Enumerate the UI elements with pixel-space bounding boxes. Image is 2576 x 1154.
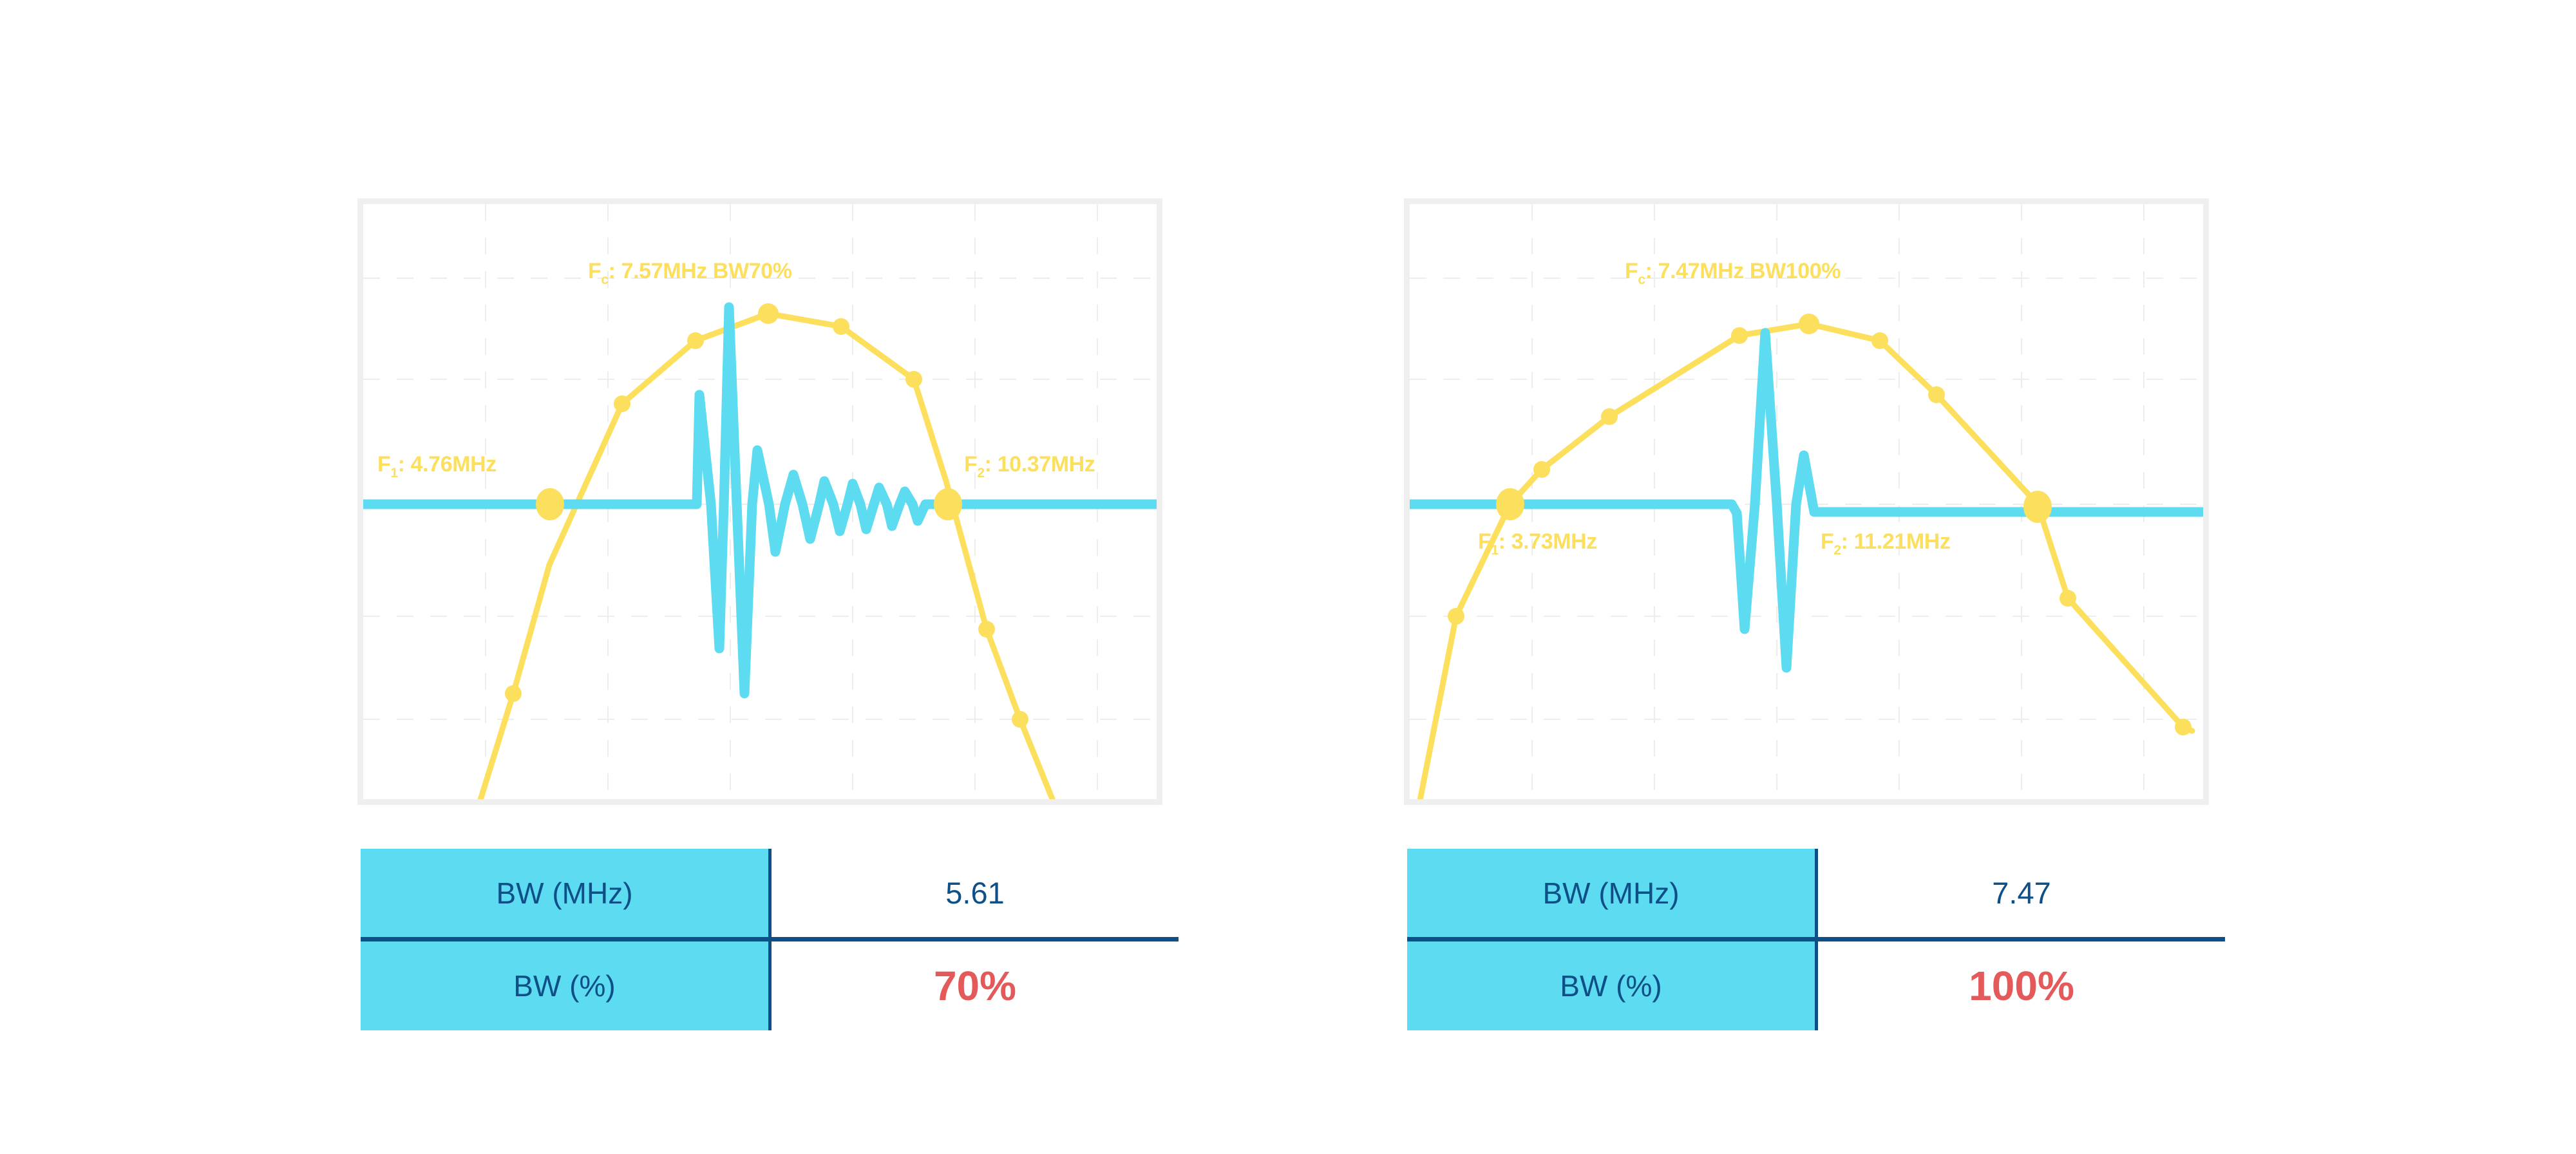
f1-symbol: F xyxy=(377,452,390,477)
spectrum-curve-left xyxy=(478,314,1058,799)
table-row-header-bw-percent-left: BW (%) xyxy=(361,941,768,1030)
f2-symbol: F xyxy=(1821,529,1833,554)
label-lower-cutoff-right: F1: 3.73MHz xyxy=(1478,529,1597,558)
pulse-waveform-left xyxy=(363,307,1157,694)
table-row-header-bw-mhz-right: BW (MHz) xyxy=(1407,849,1815,937)
chart-plot-left xyxy=(363,204,1157,799)
panel-right: Fc: 7.47MHz BW100% F1: 3.73MHz F2: 11.21… xyxy=(1046,0,2334,1154)
chart-plot-right xyxy=(1410,204,2203,799)
marker-f1-left xyxy=(536,488,564,520)
table-horizontal-divider-right xyxy=(1407,937,2225,941)
marker-f2-right xyxy=(2023,491,2052,523)
fc-text: : 7.57MHz BW70% xyxy=(609,259,792,283)
f1-symbol: F xyxy=(1478,529,1491,554)
table-row-header-bw-mhz-left: BW (MHz) xyxy=(361,849,768,937)
label-upper-cutoff-right: F2: 11.21MHz xyxy=(1821,529,1951,558)
chart-svg-right xyxy=(1410,204,2203,799)
fc-subscript: c xyxy=(601,272,608,287)
label-lower-cutoff-left: F1: 4.76MHz xyxy=(377,452,497,481)
f1-text: : 3.73MHz xyxy=(1499,529,1597,554)
table-value-bw-percent-right: 100% xyxy=(1818,941,2225,1030)
table-row-header-bw-percent-right: BW (%) xyxy=(1407,941,1815,1030)
f2-symbol: F xyxy=(964,452,977,477)
f2-subscript: 2 xyxy=(1833,543,1841,558)
f1-subscript: 1 xyxy=(390,466,397,480)
fc-text: : 7.47MHz BW100% xyxy=(1645,259,1841,283)
spectrum-curve-right xyxy=(1417,324,2192,799)
bandwidth-table-right: BW (MHz) 7.47 BW (%) 100% xyxy=(1407,849,2225,1030)
table-value-bw-mhz-right: 7.47 xyxy=(1818,849,2225,937)
label-center-frequency-left: Fc: 7.57MHz BW70% xyxy=(588,259,792,288)
f2-subscript: 2 xyxy=(977,466,984,480)
f1-text: : 4.76MHz xyxy=(398,452,497,477)
chart-svg-left xyxy=(363,204,1157,799)
label-center-frequency-right: Fc: 7.47MHz BW100% xyxy=(1625,259,1841,288)
f1-subscript: 1 xyxy=(1491,543,1498,558)
fc-subscript: c xyxy=(1638,272,1645,287)
fc-symbol: F xyxy=(1625,259,1638,283)
spectrum-markers-right xyxy=(1448,314,2192,735)
marker-f1-right xyxy=(1496,488,1524,520)
chart-frame-right xyxy=(1404,198,2209,805)
fc-symbol: F xyxy=(588,259,601,283)
marker-f2-left xyxy=(934,488,962,520)
f2-text: : 11.21MHz xyxy=(1841,529,1951,554)
chart-frame-left xyxy=(357,198,1162,805)
